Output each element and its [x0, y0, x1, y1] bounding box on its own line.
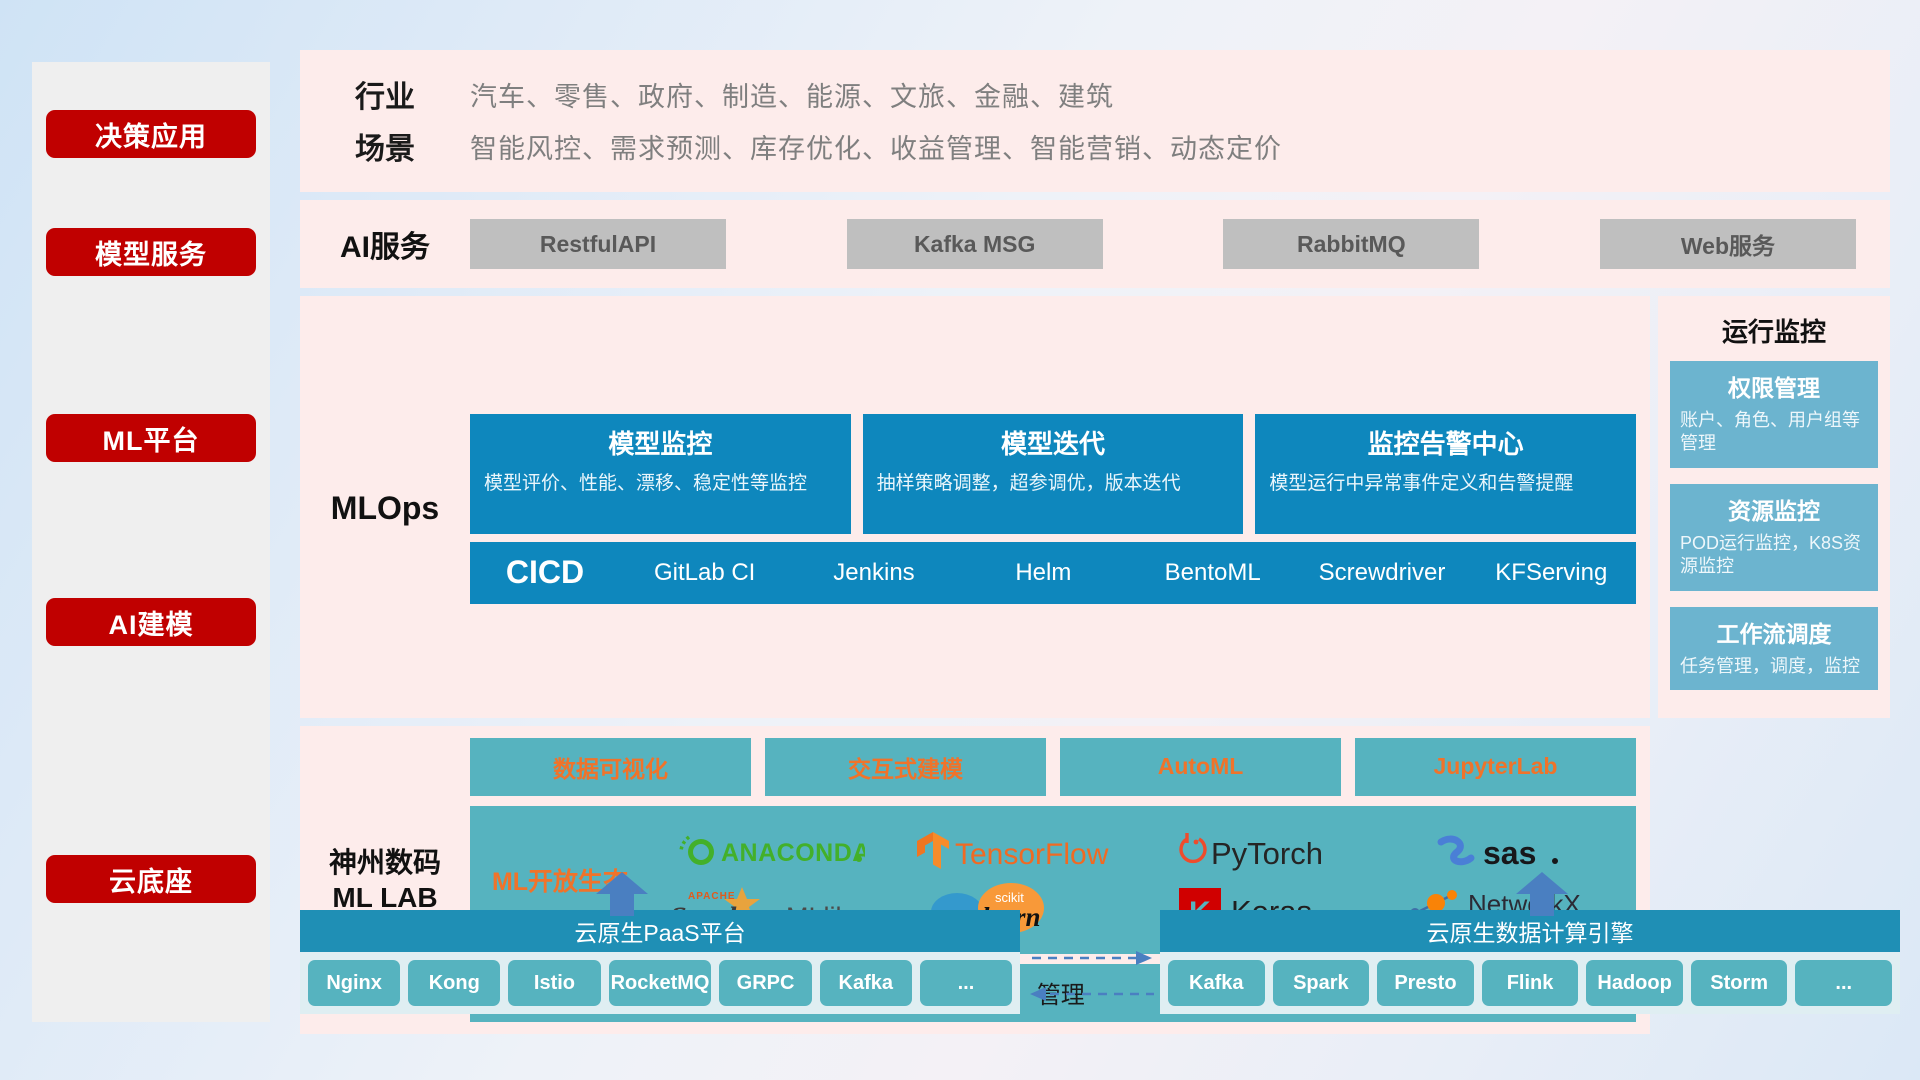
tool-interactive-modeling[interactable]: 交互式建模	[765, 738, 1046, 796]
rail-label: ML平台	[103, 419, 200, 458]
service-rabbitmq[interactable]: RabbitMQ	[1223, 219, 1479, 269]
rail-label: 云底座	[109, 860, 193, 899]
card-desc: 模型评价、性能、漂移、稳定性等监控	[484, 471, 837, 497]
paas-group: 云原生PaaS平台 Nginx Kong Istio RocketMQ GRPC…	[300, 910, 1020, 1014]
chip-grpc[interactable]: GRPC	[719, 960, 811, 1006]
ml-lab-label-line1: 神州数码	[300, 845, 470, 880]
monitor-panel-title: 运行监控	[1670, 312, 1878, 349]
scene-row: 场景 智能风控、需求预测、库存优化、收益管理、智能营销、动态定价	[300, 120, 1890, 172]
data-engine-chip-row: Kafka Spark Presto Flink Hadoop Storm ..…	[1160, 952, 1900, 1014]
data-engine-title: 云原生数据计算引擎	[1160, 910, 1900, 952]
monitor-card-workflow[interactable]: 工作流调度 任务管理，调度，监控	[1670, 607, 1878, 690]
scene-value: 智能风控、需求预测、库存优化、收益管理、智能营销、动态定价	[470, 127, 1282, 166]
monitor-panel: 运行监控 权限管理 账户、角色、用户组等管理 资源监控 POD运行监控，K8S资…	[1658, 296, 1890, 718]
chip-nginx[interactable]: Nginx	[308, 960, 400, 1006]
cicd-item-gitlab-ci[interactable]: GitLab CI	[620, 561, 789, 585]
industry-value: 汽车、零售、政府、制造、能源、文旅、金融、建筑	[470, 75, 1114, 114]
card-desc: 模型运行中异常事件定义和告警提醒	[1269, 471, 1622, 497]
mlops-card-model-monitoring[interactable]: 模型监控 模型评价、性能、漂移、稳定性等监控	[470, 414, 851, 534]
tool-automl[interactable]: AutoML	[1060, 738, 1341, 796]
chip-spark[interactable]: Spark	[1273, 960, 1370, 1006]
rail-item-cloud-base[interactable]: 云底座	[46, 855, 256, 903]
cloud-base-section: 云原生PaaS平台 Nginx Kong Istio RocketMQ GRPC…	[300, 880, 1900, 1060]
mlops-band: MLOps 模型监控 模型评价、性能、漂移、稳定性等监控 模型迭代 抽样策略调整…	[300, 296, 1650, 718]
chip-presto[interactable]: Presto	[1377, 960, 1474, 1006]
monitor-card-permission[interactable]: 权限管理 账户、角色、用户组等管理	[1670, 361, 1878, 468]
rail-item-ai-modeling[interactable]: AI建模	[46, 598, 256, 646]
tensorflow-logo: TensorFlow	[911, 825, 1126, 879]
scene-key: 场景	[300, 124, 470, 168]
svg-text:ANACONDA: ANACONDA	[721, 839, 865, 867]
card-title: 资源监控	[1680, 492, 1868, 526]
cicd-strip: CICD GitLab CI Jenkins Helm BentoML Scre…	[470, 542, 1636, 604]
rail-label: AI建模	[109, 603, 194, 642]
rail-item-decision-application[interactable]: 决策应用	[46, 110, 256, 158]
rail-item-model-service[interactable]: 模型服务	[46, 228, 256, 276]
cicd-item-jenkins[interactable]: Jenkins	[789, 561, 958, 585]
card-title: 模型迭代	[877, 424, 1230, 461]
rail-label: 模型服务	[95, 233, 207, 272]
cicd-item-kfserving[interactable]: KFServing	[1467, 561, 1636, 585]
tool-data-visualization[interactable]: 数据可视化	[470, 738, 751, 796]
service-restfulapi[interactable]: RestfulAPI	[470, 219, 726, 269]
anaconda-logo: ANACONDA	[675, 825, 865, 879]
layer-rail: 决策应用 模型服务 ML平台 AI建模 云底座	[32, 62, 270, 1022]
chip-more-right[interactable]: ...	[1795, 960, 1892, 1006]
cicd-item-screwdriver[interactable]: Screwdriver	[1297, 561, 1466, 585]
arrow-up-icon-paas	[592, 870, 652, 916]
ai-service-label: AI服务	[300, 222, 470, 266]
card-desc: POD运行监控，K8S资源监控	[1680, 532, 1868, 579]
chip-kong[interactable]: Kong	[408, 960, 500, 1006]
mlops-row: MLOps 模型监控 模型评价、性能、漂移、稳定性等监控 模型迭代 抽样策略调整…	[300, 296, 1890, 718]
rail-label: 决策应用	[95, 115, 207, 154]
chip-storm[interactable]: Storm	[1691, 960, 1788, 1006]
chip-istio[interactable]: Istio	[508, 960, 600, 1006]
mlops-card-alert-center[interactable]: 监控告警中心 模型运行中异常事件定义和告警提醒	[1255, 414, 1636, 534]
tool-jupyterlab[interactable]: JupyterLab	[1355, 738, 1636, 796]
bidirectional-link-icon	[1026, 942, 1156, 1012]
cicd-label: CICD	[470, 554, 620, 591]
monitor-card-resource[interactable]: 资源监控 POD运行监控，K8S资源监控	[1670, 484, 1878, 591]
chip-kafka[interactable]: Kafka	[820, 960, 912, 1006]
mlops-label: MLOps	[300, 490, 470, 527]
paas-chip-row: Nginx Kong Istio RocketMQ GRPC Kafka ...	[300, 952, 1020, 1014]
card-desc: 抽样策略调整，超参调优，版本迭代	[877, 471, 1230, 497]
card-desc: 任务管理，调度，监控	[1680, 655, 1868, 678]
industry-scene-band: 行业 汽车、零售、政府、制造、能源、文旅、金融、建筑 场景 智能风控、需求预测、…	[300, 50, 1890, 192]
arrow-up-icon-data-engine	[1512, 870, 1572, 916]
industry-key: 行业	[300, 72, 470, 116]
service-kafka-msg[interactable]: Kafka MSG	[847, 219, 1103, 269]
svg-text:sas: sas	[1483, 835, 1536, 871]
chip-hadoop[interactable]: Hadoop	[1586, 960, 1683, 1006]
cicd-item-bentoml[interactable]: BentoML	[1128, 561, 1297, 585]
card-title: 监控告警中心	[1269, 424, 1622, 461]
card-title: 工作流调度	[1680, 615, 1868, 649]
architecture-diagram: 决策应用 模型服务 ML平台 AI建模 云底座 行业 汽车、零售、政府、制造、能…	[0, 0, 1920, 1080]
service-web[interactable]: Web服务	[1600, 219, 1856, 269]
data-engine-group: 云原生数据计算引擎 Kafka Spark Presto Flink Hadoo…	[1160, 910, 1900, 1014]
card-title: 权限管理	[1680, 369, 1868, 403]
cicd-item-helm[interactable]: Helm	[959, 561, 1128, 585]
chip-more-left[interactable]: ...	[920, 960, 1012, 1006]
svg-text:PyTorch: PyTorch	[1211, 836, 1323, 871]
card-desc: 账户、角色、用户组等管理	[1680, 409, 1868, 456]
chip-rocketmq[interactable]: RocketMQ	[609, 960, 712, 1006]
chip-kafka-right[interactable]: Kafka	[1168, 960, 1265, 1006]
rail-item-ml-platform[interactable]: ML平台	[46, 414, 256, 462]
ai-service-band: AI服务 RestfulAPI Kafka MSG RabbitMQ Web服务	[300, 200, 1890, 288]
chip-flink[interactable]: Flink	[1482, 960, 1579, 1006]
card-title: 模型监控	[484, 424, 837, 461]
mlops-card-model-iteration[interactable]: 模型迭代 抽样策略调整，超参调优，版本迭代	[863, 414, 1244, 534]
industry-row: 行业 汽车、零售、政府、制造、能源、文旅、金融、建筑	[300, 68, 1890, 120]
svg-text:TensorFlow: TensorFlow	[955, 838, 1109, 871]
paas-title: 云原生PaaS平台	[300, 910, 1020, 952]
pytorch-logo: PyTorch	[1167, 825, 1367, 879]
